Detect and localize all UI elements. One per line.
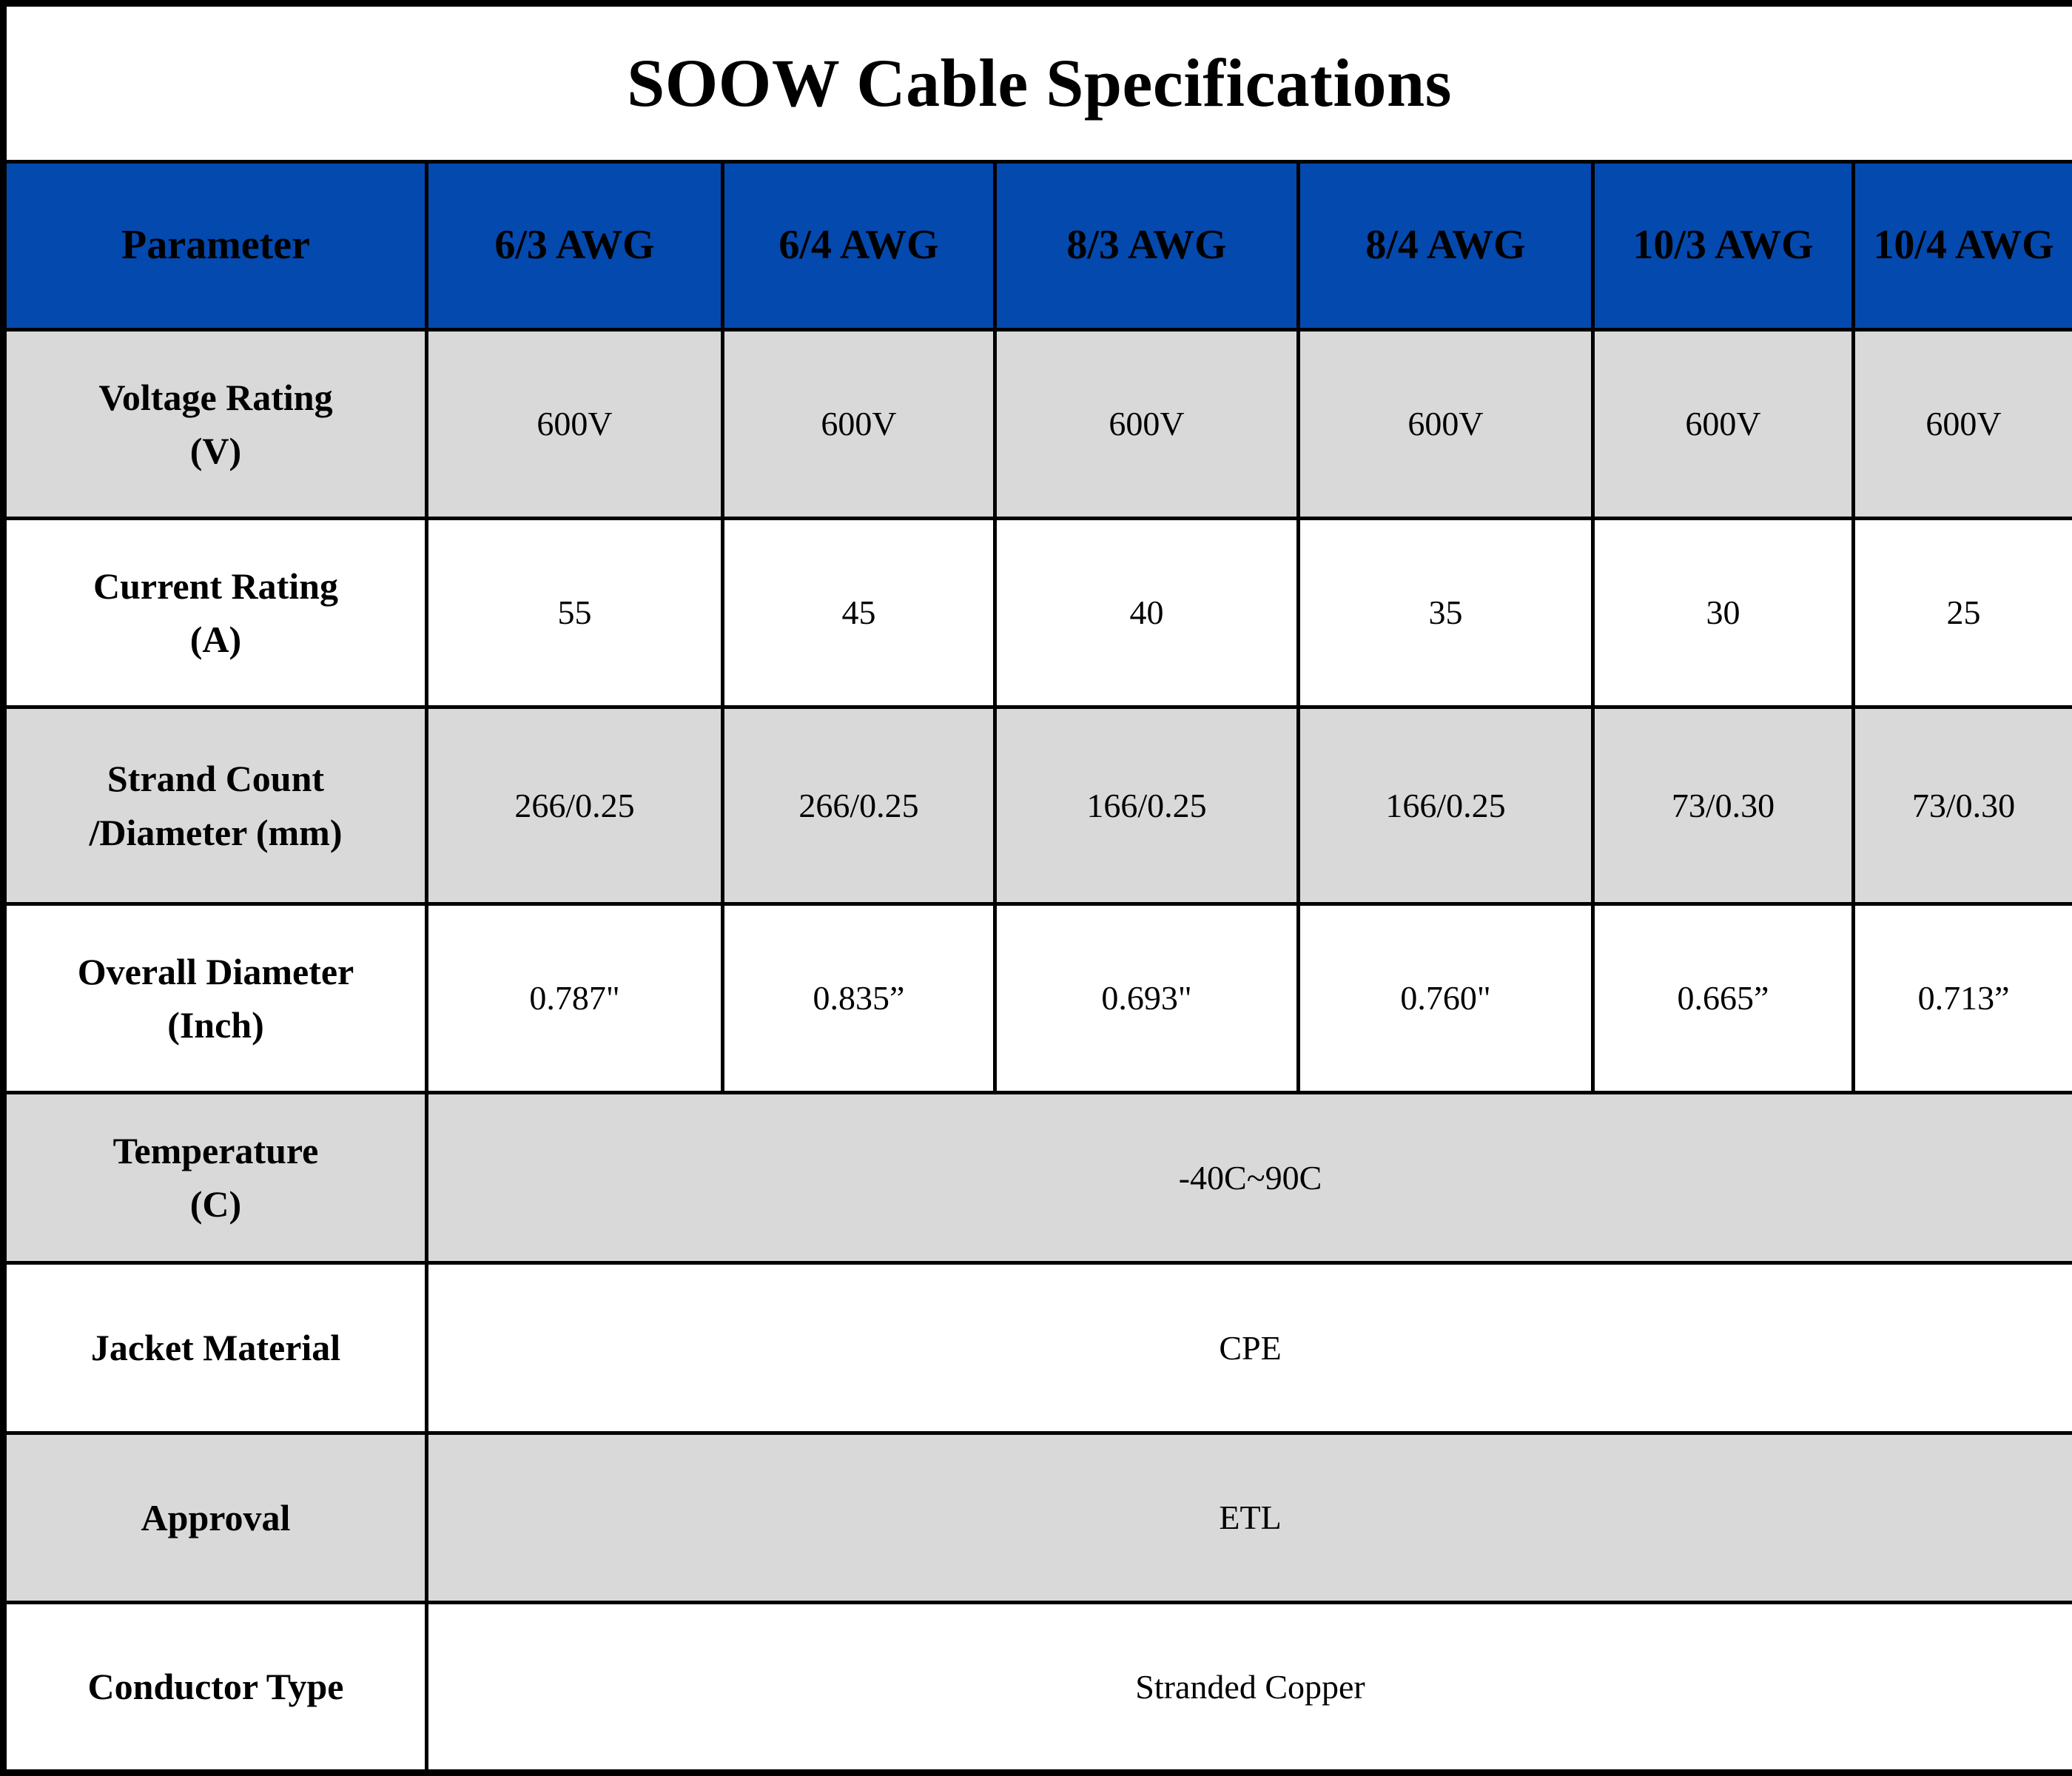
row-label-line2: /Diameter (mm) <box>90 812 343 853</box>
cell-approval-all: ETL <box>427 1433 2072 1603</box>
row-label-line1: Strand Count <box>107 758 324 799</box>
cell-strand-count-6-3: 266/0.25 <box>427 707 723 904</box>
table-row: Approval ETL <box>4 1433 2072 1603</box>
cell-current-rating-10-3: 30 <box>1593 519 1854 707</box>
column-header-6-4-awg: 6/4 AWG <box>723 162 995 330</box>
column-header-parameter: Parameter <box>4 162 427 330</box>
column-header-8-3-awg: 8/3 AWG <box>995 162 1299 330</box>
row-label-line2: (A) <box>190 619 241 660</box>
cell-voltage-rating-10-3: 600V <box>1593 330 1854 519</box>
row-label-line1: Temperature <box>113 1130 319 1171</box>
row-label-line1: Overall Diameter <box>78 951 354 992</box>
cell-overall-diameter-10-4: 0.713” <box>1854 904 2072 1092</box>
table-row: Conductor Type Stranded Copper <box>4 1603 2072 1773</box>
row-label-temperature: Temperature (C) <box>4 1093 427 1263</box>
table-header-row: Parameter 6/3 AWG 6/4 AWG 8/3 AWG 8/4 AW… <box>4 162 2072 330</box>
row-label-line1: Approval <box>141 1497 291 1538</box>
cell-voltage-rating-8-3: 600V <box>995 330 1299 519</box>
row-label-strand-count-diameter: Strand Count /Diameter (mm) <box>4 707 427 904</box>
cell-overall-diameter-10-3: 0.665” <box>1593 904 1854 1092</box>
row-label-jacket-material: Jacket Material <box>4 1262 427 1433</box>
cell-jacket-material-all: CPE <box>427 1262 2072 1433</box>
row-label-approval: Approval <box>4 1433 427 1603</box>
cell-voltage-rating-10-4: 600V <box>1854 330 2072 519</box>
row-label-line2: (C) <box>190 1183 241 1225</box>
table-row: Current Rating (A) 55 45 40 35 30 25 <box>4 519 2072 707</box>
cell-overall-diameter-6-4: 0.835” <box>723 904 995 1092</box>
row-label-conductor-type: Conductor Type <box>4 1603 427 1773</box>
title-row: SOOW Cable Specifications <box>4 4 2072 162</box>
cell-voltage-rating-6-4: 600V <box>723 330 995 519</box>
row-label-line1: Jacket Material <box>91 1327 340 1368</box>
column-header-10-3-awg: 10/3 AWG <box>1593 162 1854 330</box>
cell-strand-count-8-3: 166/0.25 <box>995 707 1299 904</box>
specification-sheet: SOOW Cable Specifications Parameter 6/3 … <box>0 0 2072 1776</box>
column-header-10-4-awg: 10/4 AWG <box>1854 162 2072 330</box>
row-label-line1: Voltage Rating <box>98 377 332 418</box>
cell-current-rating-8-4: 35 <box>1299 519 1593 707</box>
cell-voltage-rating-6-3: 600V <box>427 330 723 519</box>
row-label-line2: (V) <box>190 430 241 471</box>
table-row: Jacket Material CPE <box>4 1262 2072 1433</box>
cell-current-rating-6-4: 45 <box>723 519 995 707</box>
row-label-current-rating: Current Rating (A) <box>4 519 427 707</box>
cell-strand-count-10-4: 73/0.30 <box>1854 707 2072 904</box>
table-row: Overall Diameter (Inch) 0.787" 0.835” 0.… <box>4 904 2072 1092</box>
cell-voltage-rating-8-4: 600V <box>1299 330 1593 519</box>
column-header-6-3-awg: 6/3 AWG <box>427 162 723 330</box>
row-label-overall-diameter: Overall Diameter (Inch) <box>4 904 427 1092</box>
cell-temperature-all: -40C~90C <box>427 1093 2072 1263</box>
column-header-8-4-awg: 8/4 AWG <box>1299 162 1593 330</box>
row-label-line2: (Inch) <box>167 1004 264 1046</box>
row-label-voltage-rating: Voltage Rating (V) <box>4 330 427 519</box>
cell-current-rating-6-3: 55 <box>427 519 723 707</box>
row-label-line1: Conductor Type <box>88 1666 344 1707</box>
cell-overall-diameter-6-3: 0.787" <box>427 904 723 1092</box>
cell-overall-diameter-8-4: 0.760" <box>1299 904 1593 1092</box>
table-row: Voltage Rating (V) 600V 600V 600V 600V 6… <box>4 330 2072 519</box>
cell-conductor-type-all: Stranded Copper <box>427 1603 2072 1773</box>
cell-overall-diameter-8-3: 0.693" <box>995 904 1299 1092</box>
cell-strand-count-8-4: 166/0.25 <box>1299 707 1593 904</box>
table-row: Temperature (C) -40C~90C <box>4 1093 2072 1263</box>
soow-cable-specifications-table: SOOW Cable Specifications Parameter 6/3 … <box>0 0 2072 1776</box>
cell-current-rating-8-3: 40 <box>995 519 1299 707</box>
page-title: SOOW Cable Specifications <box>4 4 2072 162</box>
cell-current-rating-10-4: 25 <box>1854 519 2072 707</box>
cell-strand-count-10-3: 73/0.30 <box>1593 707 1854 904</box>
table-row: Strand Count /Diameter (mm) 266/0.25 266… <box>4 707 2072 904</box>
row-label-line1: Current Rating <box>93 565 338 607</box>
cell-strand-count-6-4: 266/0.25 <box>723 707 995 904</box>
